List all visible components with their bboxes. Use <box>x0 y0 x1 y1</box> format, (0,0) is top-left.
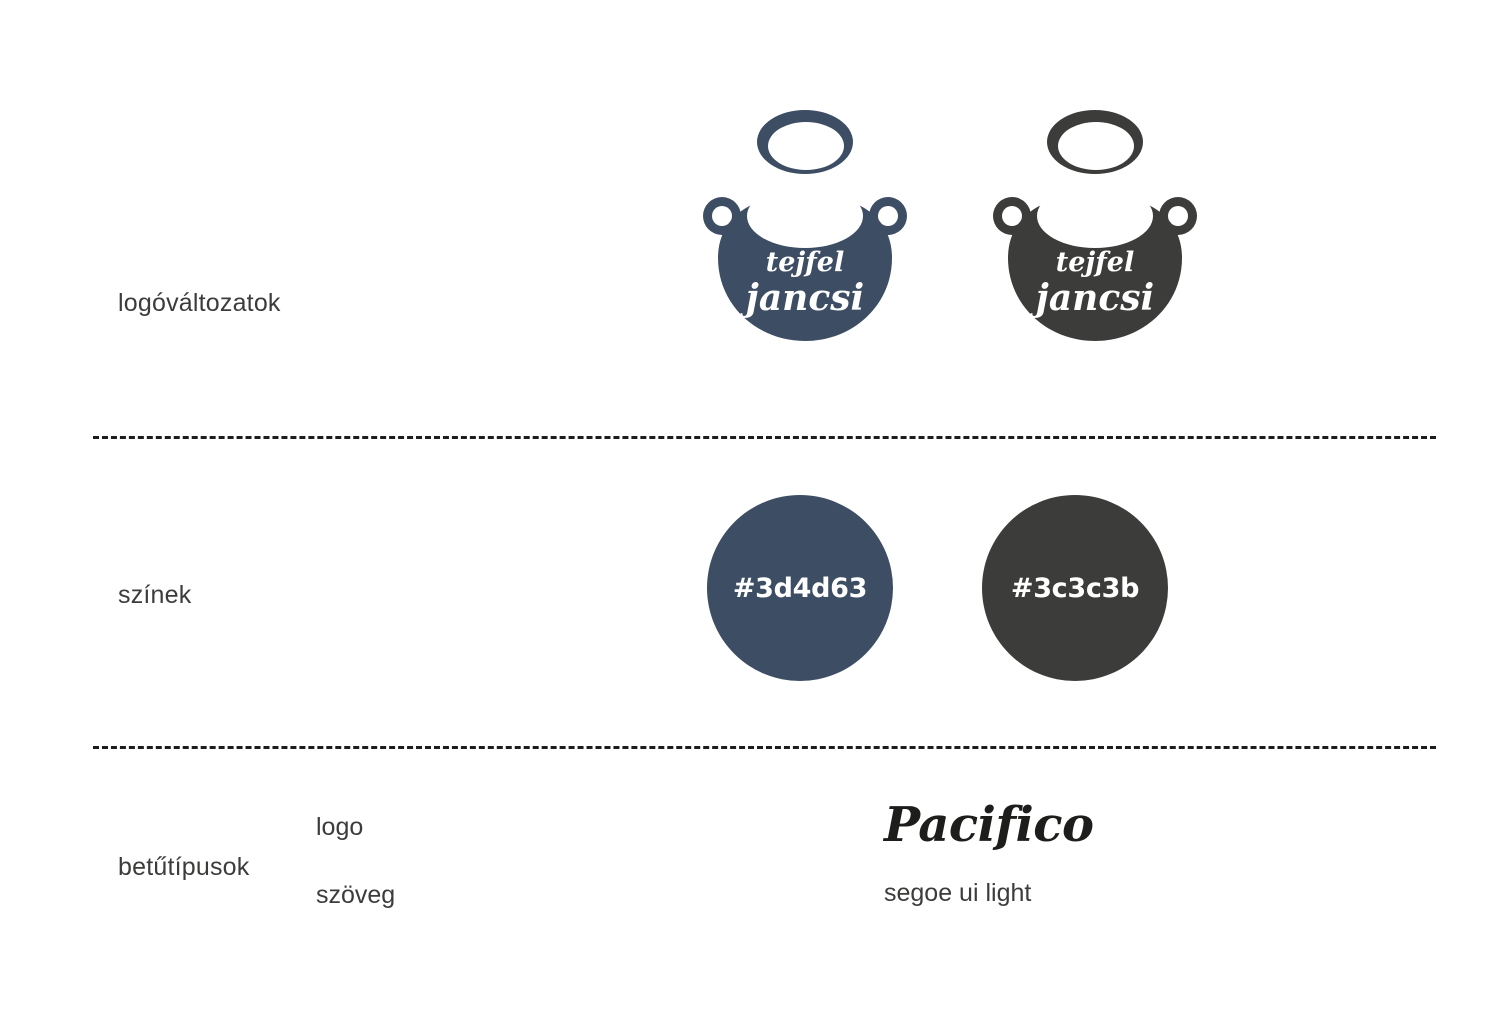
logo-variant-primary: tejfel jancsi <box>700 95 910 345</box>
logo-wordmark-line2: jancsi <box>740 277 864 319</box>
pot-logo-secondary-svg: tejfel jancsi <box>990 95 1200 345</box>
font-specimen-logo: Pacifico <box>884 797 1094 853</box>
logo-wordmark-line2: jancsi <box>1030 277 1154 319</box>
section-divider-2 <box>93 746 1436 749</box>
logo-wordmark-line1: tejfel <box>766 247 844 278</box>
color-swatch-primary: #3d4d63 <box>707 495 893 681</box>
color-swatch-primary-label: #3d4d63 <box>733 573 867 604</box>
section-divider-1 <box>93 436 1436 439</box>
font-role-label-logo: logo <box>316 813 363 842</box>
pot-lid-icon <box>757 110 853 174</box>
color-swatch-secondary-label: #3c3c3b <box>1011 573 1139 604</box>
section-label-colors: színek <box>118 581 191 610</box>
pot-logo-primary-svg: tejfel jancsi <box>700 95 910 345</box>
logo-wordmark-line1: tejfel <box>1056 247 1134 278</box>
section-label-logos: logóváltozatok <box>118 289 281 318</box>
font-role-label-body: szöveg <box>316 881 395 910</box>
pot-lid-icon <box>1047 110 1143 174</box>
section-label-fonts: betűtípusok <box>118 853 249 882</box>
logo-variant-secondary: tejfel jancsi <box>990 95 1200 345</box>
style-guide-canvas: logóváltozatok te <box>0 0 1500 1020</box>
color-swatch-secondary: #3c3c3b <box>982 495 1168 681</box>
font-specimen-body: segoe ui light <box>884 879 1031 908</box>
